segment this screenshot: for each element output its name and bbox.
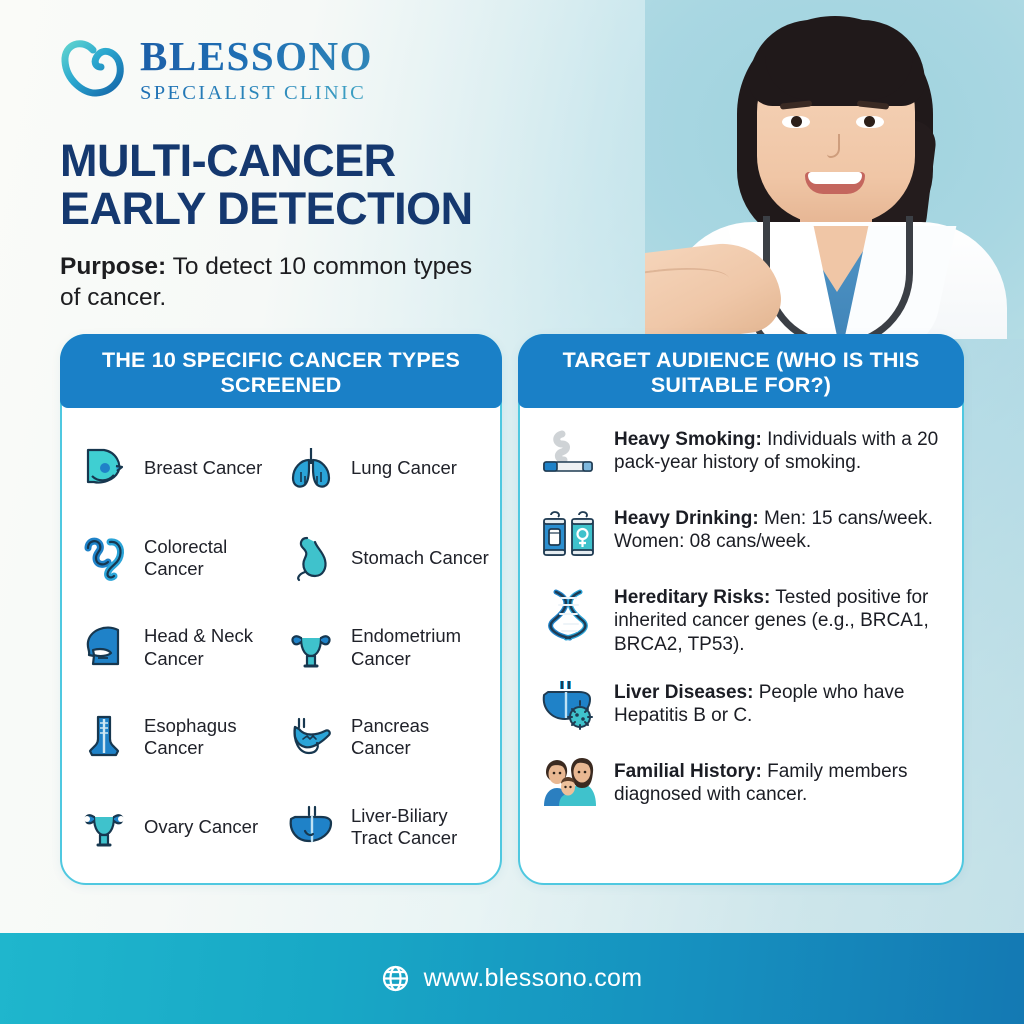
list-item: Esophagus Cancer — [76, 693, 283, 781]
page-title: MULTI-CANCER EARLY DETECTION — [60, 137, 600, 233]
cancer-type-label: Lung Cancer — [351, 457, 457, 479]
list-item: Lung Cancer — [283, 424, 490, 512]
list-item: Stomach Cancer — [283, 514, 490, 602]
list-item: Colorectal Cancer — [76, 514, 283, 602]
ovary-icon — [76, 799, 132, 855]
list-item: Heavy Drinking: Men: 15 cans/week. Women… — [538, 505, 946, 567]
cancer-type-label: Pancreas Cancer — [351, 715, 490, 759]
list-item: Hereditary Risks: Tested positive for in… — [538, 584, 946, 656]
website-url: www.blessono.com — [424, 964, 643, 993]
cancer-type-label: Stomach Cancer — [351, 547, 489, 569]
beer-cans-icon — [538, 505, 600, 567]
brand-name: BLESSONO — [140, 36, 373, 77]
cancer-type-label: Head & Neck Cancer — [144, 625, 283, 669]
cancer-type-label: Endometrium Cancer — [351, 625, 490, 669]
cancer-type-label: Colorectal Cancer — [144, 536, 283, 580]
cigarette-icon — [538, 426, 600, 488]
list-item: Endometrium Cancer — [283, 604, 490, 692]
cancer-types-card: THE 10 SPECIFIC CANCER TYPES SCREENED Br… — [60, 334, 502, 885]
breast-icon — [76, 440, 132, 496]
headline-line-1: MULTI-CANCER — [60, 137, 600, 185]
footer-bar: www.blessono.com — [0, 933, 1024, 1024]
stomach-icon — [283, 530, 339, 586]
target-audience-card-title: TARGET AUDIENCE (WHO IS THIS SUITABLE FO… — [518, 334, 964, 408]
brand-logo: BLESSONO SPECIALIST CLINIC — [60, 34, 373, 104]
head-neck-icon — [76, 620, 132, 676]
list-item: Familial History: Family members diagnos… — [538, 752, 946, 814]
target-audience-list: Heavy Smoking: Individuals with a 20 pac… — [520, 410, 962, 824]
liver-virus-icon — [538, 673, 600, 735]
list-item: Pancreas Cancer — [283, 693, 490, 781]
headline-line-2: EARLY DETECTION — [60, 185, 600, 233]
target-audience-card: TARGET AUDIENCE (WHO IS THIS SUITABLE FO… — [518, 334, 964, 885]
liver-icon — [283, 799, 339, 855]
audience-heading: Heavy Smoking: — [614, 429, 762, 450]
list-item: Head & Neck Cancer — [76, 604, 283, 692]
colon-icon — [76, 530, 132, 586]
dna-icon — [538, 584, 600, 646]
audience-heading: Familial History: — [614, 761, 762, 782]
cancer-type-label: Liver-Biliary Tract Cancer — [351, 805, 490, 849]
purpose-label: Purpose: — [60, 253, 166, 280]
doctor-photo — [645, 0, 1024, 339]
audience-heading: Hereditary Risks: — [614, 587, 770, 608]
family-icon — [538, 752, 600, 814]
audience-text: Hereditary Risks: Tested positive for in… — [614, 584, 946, 656]
cancer-types-card-title: THE 10 SPECIFIC CANCER TYPES SCREENED — [60, 334, 502, 408]
list-item: Liver Diseases: People who have Hepatiti… — [538, 673, 946, 735]
esophagus-icon — [76, 709, 132, 765]
cancer-type-label: Ovary Cancer — [144, 816, 258, 838]
audience-text: Heavy Smoking: Individuals with a 20 pac… — [614, 426, 946, 475]
audience-heading: Liver Diseases: — [614, 682, 753, 703]
cancer-type-label: Breast Cancer — [144, 457, 262, 479]
list-item: Breast Cancer — [76, 424, 283, 512]
lungs-icon — [283, 440, 339, 496]
globe-icon — [382, 965, 409, 992]
heart-swoosh-logo-icon — [60, 36, 126, 102]
list-item: Ovary Cancer — [76, 783, 283, 871]
audience-text: Heavy Drinking: Men: 15 cans/week. Women… — [614, 505, 946, 554]
pancreas-icon — [283, 709, 339, 765]
list-item: Liver-Biliary Tract Cancer — [283, 783, 490, 871]
audience-text: Liver Diseases: People who have Hepatiti… — [614, 673, 946, 728]
cancer-type-label: Esophagus Cancer — [144, 715, 283, 759]
brand-subtitle: SPECIALIST CLINIC — [140, 83, 373, 104]
uterus-icon — [283, 620, 339, 676]
audience-heading: Heavy Drinking: — [614, 508, 759, 529]
list-item: Heavy Smoking: Individuals with a 20 pac… — [538, 426, 946, 488]
purpose-statement: Purpose: To detect 10 common types of ca… — [60, 252, 490, 314]
audience-text: Familial History: Family members diagnos… — [614, 752, 946, 807]
cancer-types-grid: Breast Cancer Lung Cancer — [62, 410, 500, 883]
